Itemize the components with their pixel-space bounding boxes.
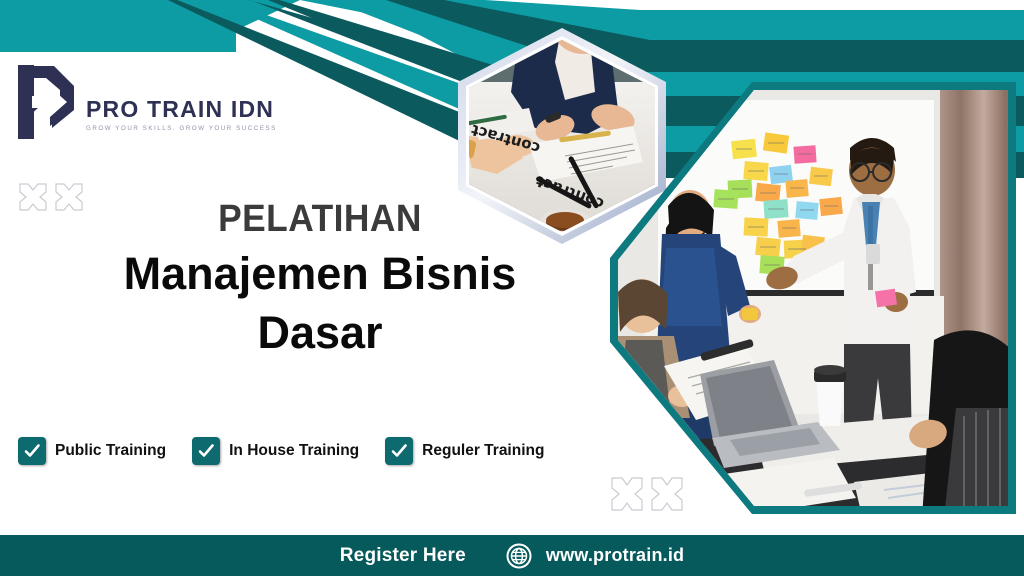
checkbox-reguler-training[interactable]: [385, 437, 413, 465]
brand-text: PRO TRAIN IDN GROW YOUR SKILLS. GROW YOU…: [86, 98, 277, 144]
training-option-public[interactable]: Public Training: [18, 437, 166, 465]
register-here-cta[interactable]: Register Here: [340, 545, 466, 567]
headline-line-2: Dasar: [60, 306, 580, 359]
checkbox-in-house-training[interactable]: [192, 437, 220, 465]
headline-kicker: PELATIHAN: [78, 198, 562, 241]
training-option-label: In House Training: [229, 442, 359, 460]
brand-logo[interactable]: PRO TRAIN IDN GROW YOUR SKILLS. GROW YOU…: [14, 60, 277, 144]
checkmark-icon: [390, 442, 408, 460]
training-option-label: Public Training: [55, 442, 166, 460]
whiteboard-training-workshop-photo: [604, 78, 1024, 518]
website-group[interactable]: www.protrain.id: [506, 543, 684, 569]
brand-name: PRO TRAIN IDN: [86, 98, 277, 121]
training-option-label: Reguler Training: [422, 442, 544, 460]
footer-bar: Register Here www.protrain.id: [0, 535, 1024, 576]
website-url[interactable]: www.protrain.id: [546, 545, 684, 566]
brand-tagline: GROW YOUR SKILLS. GROW YOUR SUCCESS: [86, 125, 277, 132]
training-option-reguler[interactable]: Reguler Training: [385, 437, 544, 465]
checkmark-icon: [197, 442, 215, 460]
checkmark-icon: [23, 442, 41, 460]
training-options-row: Public Training In House Training Regule…: [18, 437, 544, 465]
globe-icon: [506, 543, 532, 569]
protrain-arrow-logo-icon: [14, 60, 80, 144]
checkbox-public-training[interactable]: [18, 437, 46, 465]
headline-line-1: Manajemen Bisnis: [60, 247, 580, 300]
training-option-in-house[interactable]: In House Training: [192, 437, 359, 465]
promo-banner: PRO TRAIN IDN GROW YOUR SKILLS. GROW YOU…: [0, 0, 1024, 576]
headline-group: PELATIHAN Manajemen Bisnis Dasar: [60, 198, 580, 359]
